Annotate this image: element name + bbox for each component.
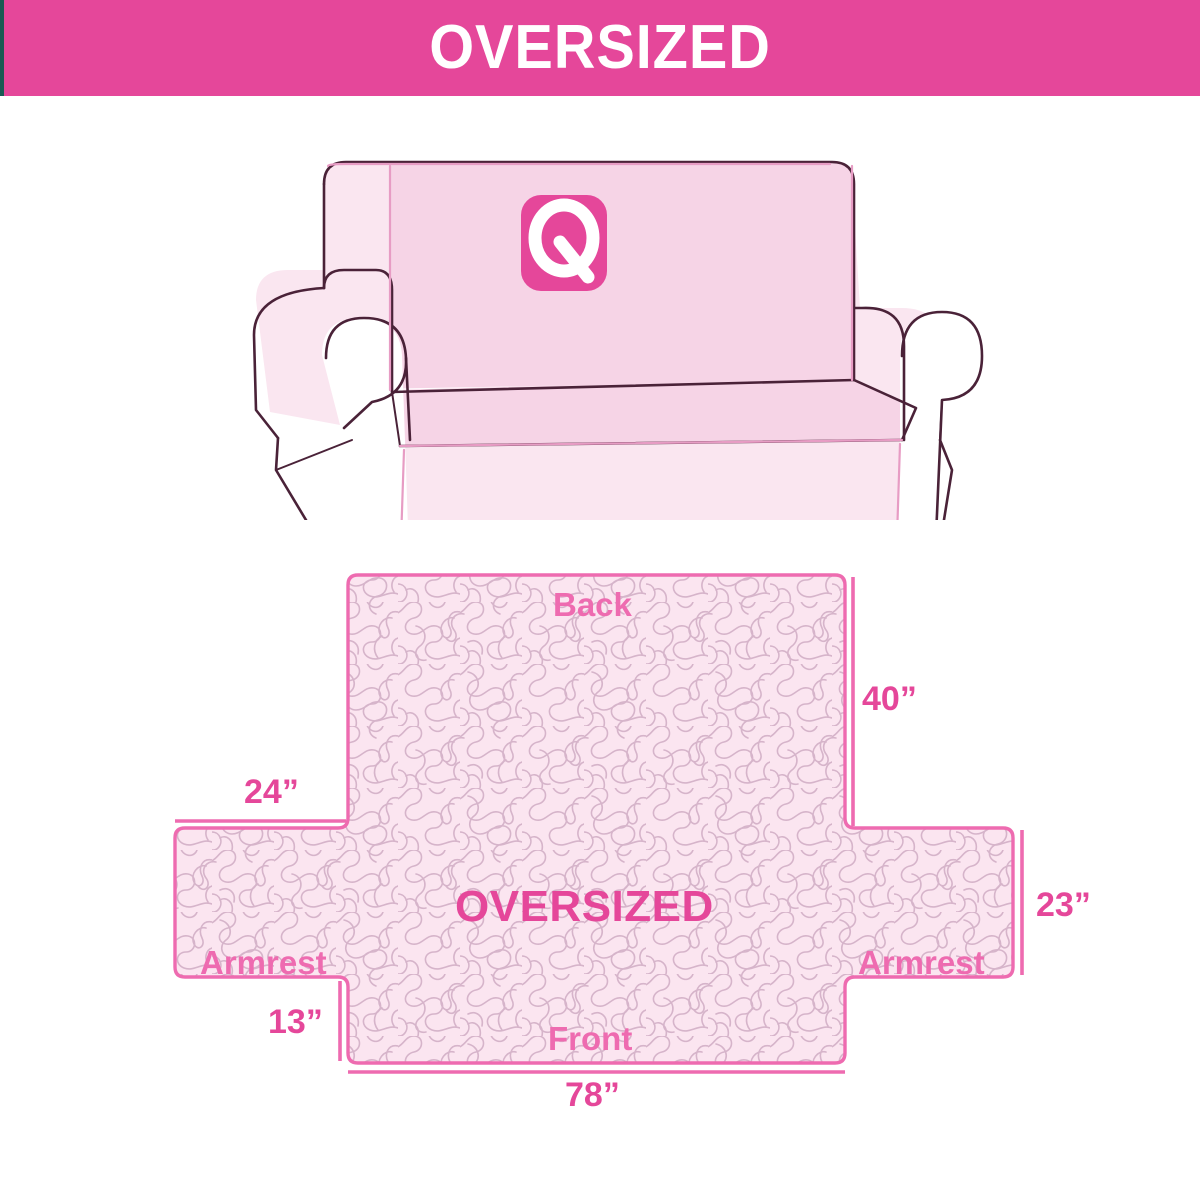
dimension-label-armrest-height: 23” bbox=[1036, 888, 1091, 922]
sofa-drawing-svg: .ol { fill:none; stroke:#4A2238; stroke-… bbox=[240, 140, 985, 520]
pattern-shape bbox=[175, 575, 1013, 1063]
dimension-label-total-width: 78” bbox=[565, 1078, 620, 1112]
sofa-illustration: .ol { fill:none; stroke:#4A2238; stroke-… bbox=[240, 140, 985, 520]
size-guide-page: OVERSIZED .ol { fill:none; stroke:#4A223… bbox=[0, 0, 1200, 1200]
dimension-label-back-height: 40” bbox=[862, 682, 917, 716]
dimension-label-front-height: 13” bbox=[268, 1005, 323, 1039]
dimension-label-armrest-depth: 24” bbox=[244, 775, 299, 809]
label-armrest-left: Armrest bbox=[200, 946, 327, 979]
label-armrest-right: Armrest bbox=[858, 946, 985, 979]
page-title: OVERSIZED bbox=[42, 0, 1158, 96]
label-back: Back bbox=[553, 588, 632, 621]
header-edge-strip bbox=[0, 0, 4, 96]
header-banner: OVERSIZED bbox=[0, 0, 1200, 96]
label-center-size: OVERSIZED bbox=[455, 885, 714, 929]
label-front: Front bbox=[548, 1022, 632, 1055]
